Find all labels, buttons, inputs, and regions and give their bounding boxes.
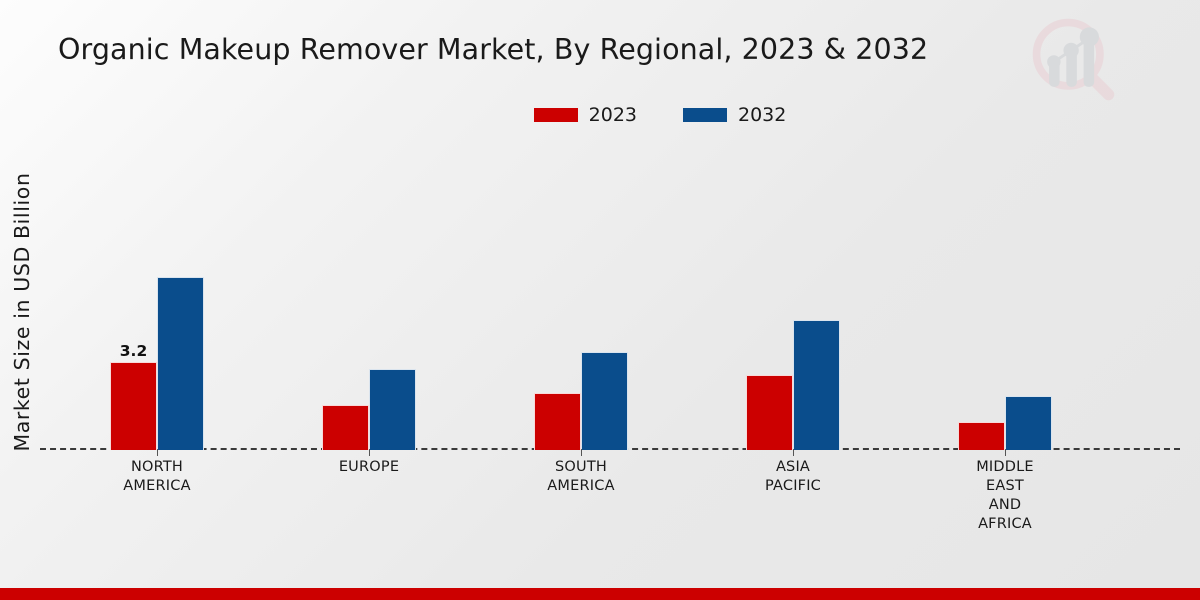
bar-2032-europe[interactable] [369, 369, 416, 450]
bar-group-middle-east-and-africa: MIDDLE EAST AND AFRICA [958, 150, 1170, 450]
x-label-line: MIDDLE [930, 458, 1080, 477]
legend-label-2032: 2032 [738, 104, 786, 126]
bar-2023-europe[interactable] [322, 405, 369, 450]
y-axis-title: Market Size in USD Billion [10, 147, 34, 477]
bar-group-north-america: 3.2 NORTH AMERICA [110, 150, 322, 450]
bar-2023-north-america[interactable]: 3.2 [110, 362, 157, 450]
x-label-line: AFRICA [930, 515, 1080, 534]
x-label-line: AMERICA [82, 477, 232, 496]
x-label-north-america: NORTH AMERICA [82, 458, 232, 496]
x-label-asia-pacific: ASIA PACIFIC [718, 458, 868, 496]
x-tick-north-america [157, 449, 158, 456]
market-research-logo-icon [1026, 12, 1122, 108]
bar-group-europe: EUROPE [322, 150, 534, 450]
bar-2032-asia-pacific[interactable] [793, 320, 840, 450]
x-label-europe: EUROPE [294, 458, 444, 477]
x-label-line: AND [930, 496, 1080, 515]
x-label-line: EUROPE [294, 458, 444, 477]
chart-legend: 2023 2032 [0, 104, 1200, 126]
plot-area: 3.2 NORTH AMERICA EUROPE [40, 150, 1180, 450]
bars-south-america [534, 150, 746, 450]
bars-north-america: 3.2 [110, 150, 322, 450]
bar-value-2023-north-america: 3.2 [120, 342, 147, 360]
legend-swatch-2023 [534, 108, 578, 122]
bar-group-south-america: SOUTH AMERICA [534, 150, 746, 450]
bars-europe [322, 150, 534, 450]
bars-asia-pacific [746, 150, 958, 450]
legend-item-2023[interactable]: 2023 [534, 104, 637, 126]
bar-groups: 3.2 NORTH AMERICA EUROPE [110, 150, 1170, 450]
legend-label-2023: 2023 [589, 104, 637, 126]
bars-middle-east-and-africa [958, 150, 1170, 450]
legend-swatch-2032 [683, 108, 727, 122]
bar-2023-middle-east-and-africa[interactable] [958, 422, 1005, 450]
x-tick-middle-east-and-africa [1005, 449, 1006, 456]
chart-title: Organic Makeup Remover Market, By Region… [58, 33, 928, 66]
bar-2032-south-america[interactable] [581, 352, 628, 450]
bar-2032-north-america[interactable] [157, 277, 204, 450]
chart-container: Organic Makeup Remover Market, By Region… [0, 0, 1200, 600]
x-label-south-america: SOUTH AMERICA [506, 458, 656, 496]
x-label-line: ASIA [718, 458, 868, 477]
bar-2032-middle-east-and-africa[interactable] [1005, 396, 1052, 450]
bar-group-asia-pacific: ASIA PACIFIC [746, 150, 958, 450]
legend-item-2032[interactable]: 2032 [683, 104, 786, 126]
x-label-line: SOUTH [506, 458, 656, 477]
bar-2023-south-america[interactable] [534, 393, 581, 450]
x-label-line: PACIFIC [718, 477, 868, 496]
footer-accent-bar [0, 588, 1200, 600]
bar-2023-asia-pacific[interactable] [746, 375, 793, 450]
x-label-middle-east-and-africa: MIDDLE EAST AND AFRICA [930, 458, 1080, 534]
x-tick-asia-pacific [793, 449, 794, 456]
x-label-line: AMERICA [506, 477, 656, 496]
x-tick-south-america [581, 449, 582, 456]
x-label-line: EAST [930, 477, 1080, 496]
x-tick-europe [369, 449, 370, 456]
x-label-line: NORTH [82, 458, 232, 477]
